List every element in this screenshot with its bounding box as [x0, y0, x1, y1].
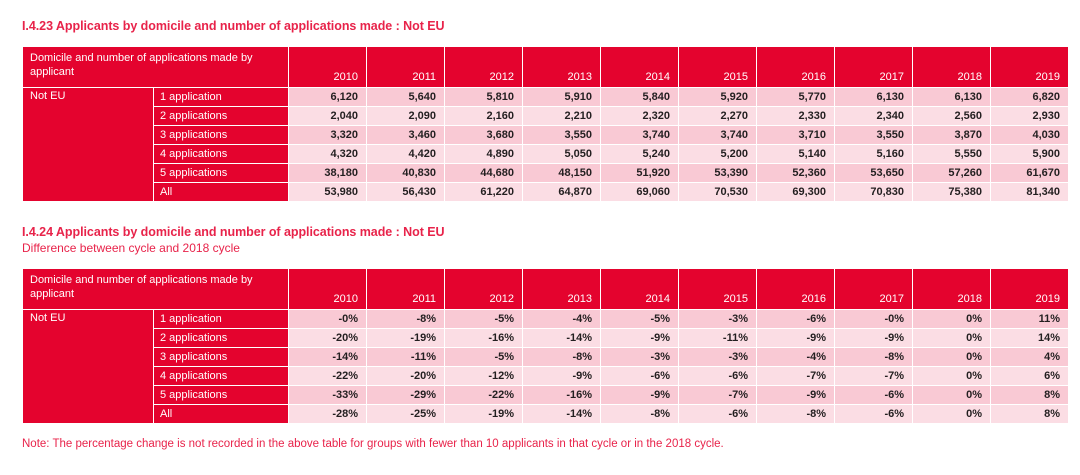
- domicile-cell: Not EU: [23, 88, 153, 201]
- cell-value: -20%: [367, 367, 444, 385]
- cell-value: -29%: [367, 386, 444, 404]
- header-year-2019: 2019: [991, 47, 1068, 87]
- cell-value: -20%: [289, 329, 366, 347]
- cell-value: -9%: [523, 367, 600, 385]
- table-row-total: All -28% -25% -19% -14% -8% -6% -8% -6% …: [23, 405, 1068, 423]
- cell-value: 14%: [991, 329, 1068, 347]
- header-year-2013: 2013: [523, 47, 600, 87]
- table-row: 3 applications 3,320 3,460 3,680 3,550 3…: [23, 126, 1068, 144]
- cell-value: 61,220: [445, 183, 522, 201]
- cell-value: -14%: [289, 348, 366, 366]
- row-label: 3 applications: [154, 348, 288, 366]
- cell-value: 11%: [991, 310, 1068, 328]
- cell-value: -33%: [289, 386, 366, 404]
- table-block-2: I.4.24 Applicants by domicile and number…: [22, 224, 1058, 424]
- cell-value: 40,830: [367, 164, 444, 182]
- table-header-1: Domicile and number of applications made…: [23, 47, 1068, 87]
- row-label: 1 application: [154, 88, 288, 106]
- cell-value: -7%: [757, 367, 834, 385]
- cell-value: 6,130: [913, 88, 990, 106]
- cell-value: 2,320: [601, 107, 678, 125]
- cell-value: 3,710: [757, 126, 834, 144]
- cell-value: 51,920: [601, 164, 678, 182]
- cell-value: -7%: [679, 386, 756, 404]
- table-row: 5 applications 38,180 40,830 44,680 48,1…: [23, 164, 1068, 182]
- cell-value: 2,930: [991, 107, 1068, 125]
- cell-value: -0%: [835, 310, 912, 328]
- page-title-2: I.4.24 Applicants by domicile and number…: [22, 224, 1058, 240]
- cell-value: 2,560: [913, 107, 990, 125]
- cell-value: -8%: [601, 405, 678, 423]
- table-row: 4 applications 4,320 4,420 4,890 5,050 5…: [23, 145, 1068, 163]
- cell-value: 6,120: [289, 88, 366, 106]
- cell-value: -22%: [289, 367, 366, 385]
- cell-value: 3,680: [445, 126, 522, 144]
- table-body-1: Not EU 1 application 6,120 5,640 5,810 5…: [23, 88, 1068, 201]
- cell-value: -3%: [679, 310, 756, 328]
- cell-value: -4%: [523, 310, 600, 328]
- header-year-2016: 2016: [757, 269, 834, 309]
- header-domicile-label: Domicile and number of applications made…: [23, 269, 288, 309]
- cell-value: -8%: [367, 310, 444, 328]
- cell-value: -3%: [601, 348, 678, 366]
- row-label-total: All: [154, 405, 288, 423]
- header-year-2015: 2015: [679, 269, 756, 309]
- cell-value: -19%: [445, 405, 522, 423]
- cell-value: 5,840: [601, 88, 678, 106]
- cell-value: 0%: [913, 386, 990, 404]
- cell-value: 53,980: [289, 183, 366, 201]
- header-year-2017: 2017: [835, 269, 912, 309]
- header-year-2014: 2014: [601, 269, 678, 309]
- row-label: 3 applications: [154, 126, 288, 144]
- table-row: Not EU 1 application 6,120 5,640 5,810 5…: [23, 88, 1068, 106]
- cell-value: -6%: [835, 405, 912, 423]
- cell-value: 70,830: [835, 183, 912, 201]
- cell-value: 6,820: [991, 88, 1068, 106]
- cell-value: 6,130: [835, 88, 912, 106]
- cell-value: -6%: [835, 386, 912, 404]
- row-label: 4 applications: [154, 367, 288, 385]
- cell-value: 5,770: [757, 88, 834, 106]
- cell-value: 57,260: [913, 164, 990, 182]
- cell-value: -9%: [601, 329, 678, 347]
- cell-value: 75,380: [913, 183, 990, 201]
- header-row: Domicile and number of applications made…: [23, 47, 1068, 87]
- cell-value: 53,390: [679, 164, 756, 182]
- cell-value: -3%: [679, 348, 756, 366]
- cell-value: 8%: [991, 405, 1068, 423]
- header-year-2018: 2018: [913, 47, 990, 87]
- cell-value: -14%: [523, 405, 600, 423]
- page-subtitle-2: Difference between cycle and 2018 cycle: [22, 241, 1058, 256]
- header-year-2013: 2013: [523, 269, 600, 309]
- cell-value: -6%: [601, 367, 678, 385]
- cell-value: 69,300: [757, 183, 834, 201]
- header-row: Domicile and number of applications made…: [23, 269, 1068, 309]
- cell-value: -8%: [757, 405, 834, 423]
- applications-table-counts: Domicile and number of applications made…: [22, 46, 1069, 202]
- cell-value: -25%: [367, 405, 444, 423]
- cell-value: 2,040: [289, 107, 366, 125]
- header-year-2015: 2015: [679, 47, 756, 87]
- row-label: 4 applications: [154, 145, 288, 163]
- table-row: Not EU 1 application -0% -8% -5% -4% -5%…: [23, 310, 1068, 328]
- cell-value: -16%: [445, 329, 522, 347]
- header-year-2010: 2010: [289, 269, 366, 309]
- cell-value: -12%: [445, 367, 522, 385]
- cell-value: 69,060: [601, 183, 678, 201]
- header-domicile-label: Domicile and number of applications made…: [23, 47, 288, 87]
- table-body-2: Not EU 1 application -0% -8% -5% -4% -5%…: [23, 310, 1068, 423]
- table-row-total: All 53,980 56,430 61,220 64,870 69,060 7…: [23, 183, 1068, 201]
- row-label-total: All: [154, 183, 288, 201]
- row-label: 2 applications: [154, 107, 288, 125]
- cell-value: 4%: [991, 348, 1068, 366]
- cell-value: 0%: [913, 310, 990, 328]
- header-year-2018: 2018: [913, 269, 990, 309]
- cell-value: -6%: [679, 367, 756, 385]
- cell-value: -6%: [757, 310, 834, 328]
- cell-value: -8%: [835, 348, 912, 366]
- cell-value: -9%: [757, 386, 834, 404]
- cell-value: 5,200: [679, 145, 756, 163]
- table-row: 2 applications 2,040 2,090 2,160 2,210 2…: [23, 107, 1068, 125]
- cell-value: 61,670: [991, 164, 1068, 182]
- cell-value: 5,140: [757, 145, 834, 163]
- cell-value: 4,030: [991, 126, 1068, 144]
- cell-value: -8%: [523, 348, 600, 366]
- cell-value: -6%: [679, 405, 756, 423]
- cell-value: 0%: [913, 329, 990, 347]
- footnote: Note: The percentage change is not recor…: [22, 437, 1058, 452]
- cell-value: 3,460: [367, 126, 444, 144]
- cell-value: -9%: [835, 329, 912, 347]
- header-year-2011: 2011: [367, 269, 444, 309]
- cell-value: 2,210: [523, 107, 600, 125]
- cell-value: 3,740: [601, 126, 678, 144]
- row-label: 1 application: [154, 310, 288, 328]
- cell-value: 3,740: [679, 126, 756, 144]
- header-year-2012: 2012: [445, 47, 522, 87]
- table-row: 5 applications -33% -29% -22% -16% -9% -…: [23, 386, 1068, 404]
- cell-value: 2,330: [757, 107, 834, 125]
- header-year-2011: 2011: [367, 47, 444, 87]
- applications-table-difference: Domicile and number of applications made…: [22, 268, 1069, 424]
- cell-value: 3,550: [523, 126, 600, 144]
- cell-value: 0%: [913, 367, 990, 385]
- table-row: 2 applications -20% -19% -16% -14% -9% -…: [23, 329, 1068, 347]
- cell-value: 5,900: [991, 145, 1068, 163]
- row-label: 5 applications: [154, 386, 288, 404]
- cell-value: 4,320: [289, 145, 366, 163]
- cell-value: 5,920: [679, 88, 756, 106]
- section-spacer: [22, 202, 1058, 224]
- cell-value: 81,340: [991, 183, 1068, 201]
- cell-value: 3,320: [289, 126, 366, 144]
- cell-value: 6%: [991, 367, 1068, 385]
- cell-value: 5,050: [523, 145, 600, 163]
- report-page: I.4.23 Applicants by domicile and number…: [0, 0, 1080, 452]
- cell-value: -16%: [523, 386, 600, 404]
- cell-value: -19%: [367, 329, 444, 347]
- cell-value: -4%: [757, 348, 834, 366]
- cell-value: 52,360: [757, 164, 834, 182]
- cell-value: 56,430: [367, 183, 444, 201]
- cell-value: 2,270: [679, 107, 756, 125]
- cell-value: 5,550: [913, 145, 990, 163]
- cell-value: 8%: [991, 386, 1068, 404]
- cell-value: -5%: [445, 348, 522, 366]
- cell-value: 5,910: [523, 88, 600, 106]
- cell-value: 0%: [913, 348, 990, 366]
- cell-value: 3,870: [913, 126, 990, 144]
- cell-value: 5,160: [835, 145, 912, 163]
- cell-value: 5,240: [601, 145, 678, 163]
- cell-value: -9%: [601, 386, 678, 404]
- header-year-2014: 2014: [601, 47, 678, 87]
- cell-value: -5%: [445, 310, 522, 328]
- row-label: 5 applications: [154, 164, 288, 182]
- page-title-1: I.4.23 Applicants by domicile and number…: [22, 18, 1058, 34]
- cell-value: -11%: [367, 348, 444, 366]
- cell-value: 4,890: [445, 145, 522, 163]
- cell-value: -7%: [835, 367, 912, 385]
- header-year-2012: 2012: [445, 269, 522, 309]
- cell-value: -5%: [601, 310, 678, 328]
- cell-value: 64,870: [523, 183, 600, 201]
- cell-value: 2,160: [445, 107, 522, 125]
- cell-value: 2,090: [367, 107, 444, 125]
- cell-value: -14%: [523, 329, 600, 347]
- table-block-1: I.4.23 Applicants by domicile and number…: [22, 18, 1058, 202]
- cell-value: 5,810: [445, 88, 522, 106]
- cell-value: 4,420: [367, 145, 444, 163]
- header-year-2019: 2019: [991, 269, 1068, 309]
- table-header-2: Domicile and number of applications made…: [23, 269, 1068, 309]
- domicile-cell: Not EU: [23, 310, 153, 423]
- cell-value: -9%: [757, 329, 834, 347]
- cell-value: -28%: [289, 405, 366, 423]
- header-year-2016: 2016: [757, 47, 834, 87]
- row-label: 2 applications: [154, 329, 288, 347]
- cell-value: 0%: [913, 405, 990, 423]
- table-row: 3 applications -14% -11% -5% -8% -3% -3%…: [23, 348, 1068, 366]
- cell-value: -11%: [679, 329, 756, 347]
- cell-value: -0%: [289, 310, 366, 328]
- cell-value: 48,150: [523, 164, 600, 182]
- cell-value: -22%: [445, 386, 522, 404]
- header-year-2017: 2017: [835, 47, 912, 87]
- cell-value: 53,650: [835, 164, 912, 182]
- table-row: 4 applications -22% -20% -12% -9% -6% -6…: [23, 367, 1068, 385]
- header-year-2010: 2010: [289, 47, 366, 87]
- cell-value: 38,180: [289, 164, 366, 182]
- cell-value: 5,640: [367, 88, 444, 106]
- cell-value: 70,530: [679, 183, 756, 201]
- cell-value: 44,680: [445, 164, 522, 182]
- cell-value: 2,340: [835, 107, 912, 125]
- cell-value: 3,550: [835, 126, 912, 144]
